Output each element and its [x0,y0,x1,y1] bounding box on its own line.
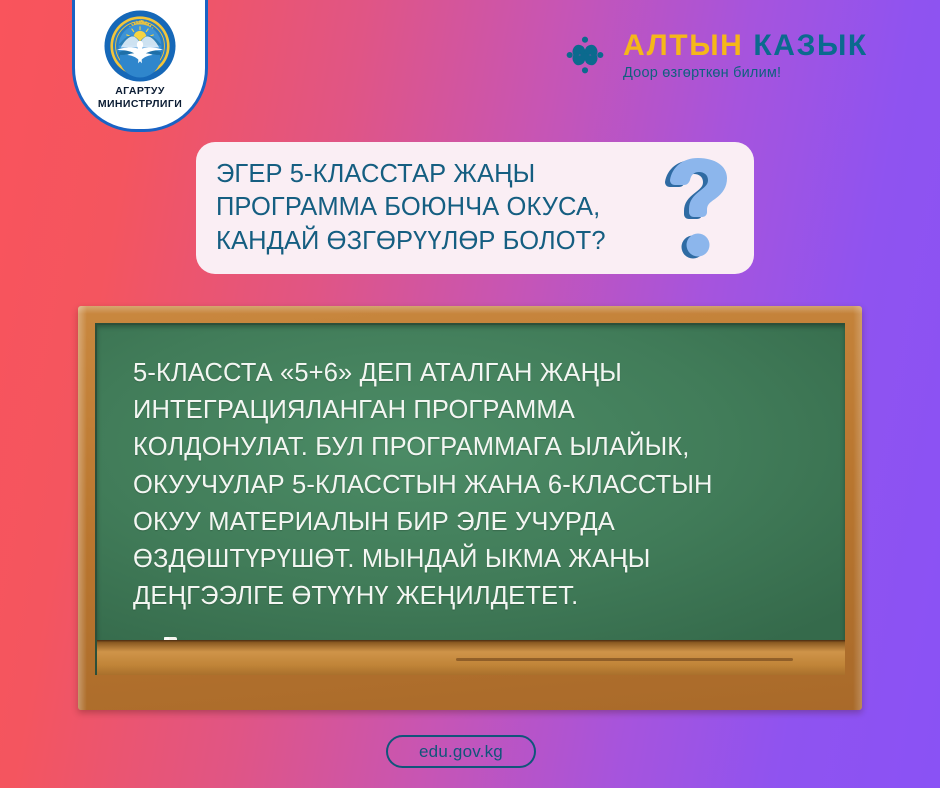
question-mark-icon [656,152,740,264]
ministry-badge-line1: АГАРТУУ [98,85,182,98]
ministry-badge: АГАРТУУ МИНИСТРЛИГИ [72,0,208,132]
blackboard: 5-КЛАССТА «5+6» ДЕП АТАЛГАН ЖАҢЫ ИНТЕГРА… [78,306,862,710]
ministry-badge-label: АГАРТУУ МИНИСТРЛИГИ [98,85,182,111]
blackboard-line-4: ОКУУЧУЛАР 5-КЛАССТЫН ЖАНА 6-КЛАССТЫН [133,467,845,504]
brand-word-kazyk: КАЗЫК [753,29,867,62]
brand-word-altyn: АЛТЫН [623,29,743,62]
brand-logo: АЛТЫН КАЗЫК Доор өзгөрткөн билим! [558,28,868,82]
question-line-3: КАНДАЙ ӨЗГӨРҮҮЛӨР БОЛОТ? [216,225,654,258]
blackboard-line-1: 5-КЛАССТА «5+6» ДЕП АТАЛГАН ЖАҢЫ [133,355,845,392]
brand-text-block: АЛТЫН КАЗЫК Доор өзгөрткөн билим! [623,29,868,81]
blackboard-line-6: ӨЗДӨШТҮРҮШӨТ. МЫНДАЙ ЫКМА ЖАҢЫ [133,541,845,578]
ministry-badge-line2: МИНИСТРЛИГИ [98,98,182,111]
blackboard-text: 5-КЛАССТА «5+6» ДЕП АТАЛГАН ЖАҢЫ ИНТЕГРА… [133,355,845,616]
website-url-text: edu.gov.kg [419,742,503,762]
poster-canvas: АГАРТУУ МИНИСТРЛИГИ [0,0,940,788]
question-line-2: ПРОГРАММА БОЮНЧА ОКУСА, [216,191,654,224]
blackboard-line-7: ДЕҢГЭЭЛГЕ ӨТҮҮНҮ ЖЕҢИЛДЕТЕТ. [133,578,845,615]
blackboard-line-2: ИНТЕГРАЦИЯЛАНГАН ПРОГРАММА [133,392,845,429]
blackboard-line-5: ОКУУ МАТЕРИАЛЫН БИР ЭЛЕ УЧУРДА [133,504,845,541]
blackboard-surface: 5-КЛАССТА «5+6» ДЕП АТАЛГАН ЖАҢЫ ИНТЕГРА… [95,323,845,675]
brand-tagline: Доор өзгөрткөн билим! [623,65,868,81]
question-card: ЭГЕР 5-КЛАССТАР ЖАҢЫ ПРОГРАММА БОЮНЧА ОК… [196,142,754,274]
blackboard-line-3: КОЛДОНУЛАТ. БУЛ ПРОГРАММАГА ЫЛАЙЫК, [133,429,845,466]
question-line-1: ЭГЕР 5-КЛАССТАР ЖАҢЫ [216,158,654,191]
blackboard-ledge [97,640,845,675]
kyrgyz-republic-coat-of-arms-icon [103,9,177,83]
question-text: ЭГЕР 5-КЛАССТАР ЖАҢЫ ПРОГРАММА БОЮНЧА ОК… [216,158,654,257]
kyrgyz-ornament-icon [558,28,612,82]
website-url-badge[interactable]: edu.gov.kg [386,735,536,768]
brand-wordmark: АЛТЫН КАЗЫК [623,31,868,61]
